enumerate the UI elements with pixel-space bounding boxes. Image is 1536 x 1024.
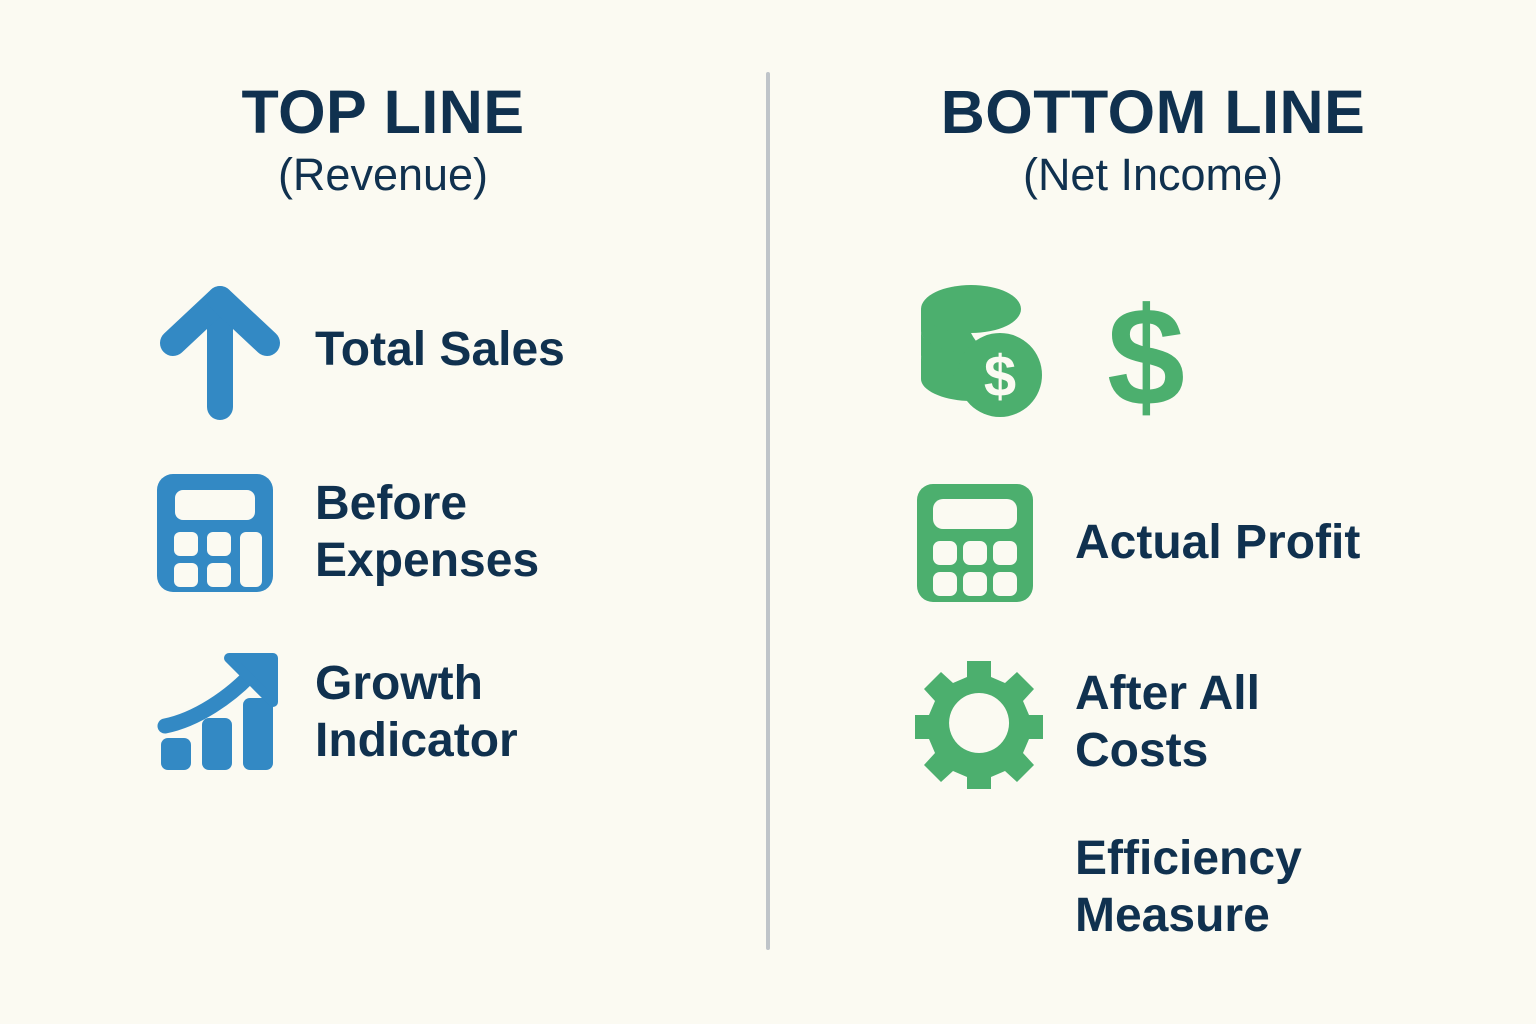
svg-text:$: $ bbox=[1107, 283, 1185, 423]
top-line-title: TOP LINE bbox=[0, 80, 766, 144]
list-item: $ $ bbox=[770, 258, 1536, 453]
list-item: Actual Profit bbox=[770, 453, 1536, 633]
calculator-icon bbox=[915, 468, 1075, 618]
coin-stack-icon: $ bbox=[915, 283, 1043, 428]
column-top-line: TOP LINE (Revenue) Total Sales bbox=[0, 0, 766, 1024]
list-item-label: Growth Indicator bbox=[315, 656, 518, 769]
dollar-sign-icon: $ bbox=[1103, 283, 1189, 428]
list-item: Total Sales bbox=[0, 258, 766, 443]
column-bottom-line: BOTTOM LINE (Net Income) bbox=[770, 0, 1536, 1024]
top-line-item-list: Total Sales Before Expenses bbox=[0, 258, 766, 803]
list-item: Before Expenses bbox=[0, 443, 766, 623]
list-item-label: After All Costs bbox=[1075, 666, 1260, 779]
list-item: Efficiency Measure bbox=[770, 813, 1536, 973]
infographic-canvas: TOP LINE (Revenue) Total Sales bbox=[0, 0, 1536, 1024]
top-line-heading: TOP LINE (Revenue) bbox=[0, 80, 766, 200]
bottom-line-heading: BOTTOM LINE (Net Income) bbox=[770, 80, 1536, 200]
bottom-line-item-list: $ $ bbox=[770, 258, 1536, 973]
bottom-line-title: BOTTOM LINE bbox=[770, 80, 1536, 144]
top-line-subtitle: (Revenue) bbox=[0, 150, 766, 200]
up-arrow-icon bbox=[155, 276, 315, 426]
list-item-label: Actual Profit bbox=[1075, 515, 1360, 572]
gear-icon bbox=[915, 648, 1075, 798]
svg-text:$: $ bbox=[984, 344, 1016, 409]
list-item-label: Efficiency Measure bbox=[1075, 831, 1302, 944]
list-item: After All Costs bbox=[770, 633, 1536, 813]
money-icon-row: $ $ bbox=[915, 283, 1536, 428]
bottom-line-subtitle: (Net Income) bbox=[770, 150, 1536, 200]
list-item-label: Before Expenses bbox=[315, 476, 539, 589]
growth-chart-icon bbox=[155, 638, 315, 788]
list-item: Growth Indicator bbox=[0, 623, 766, 803]
list-item-label: Total Sales bbox=[315, 322, 565, 379]
calculator-icon bbox=[155, 458, 315, 608]
